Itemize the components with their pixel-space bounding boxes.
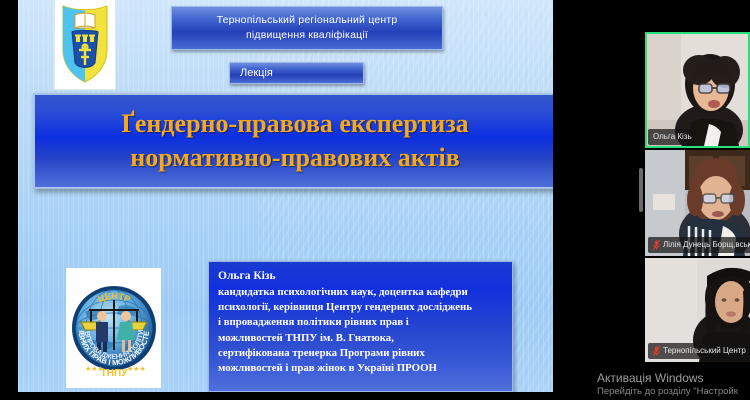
presenter-bio-line: і впровадження політики рівних прав і <box>218 315 512 330</box>
participant-name: Лілія Дунець Борщ,вськ <box>663 239 750 251</box>
svg-text:ТНПУ: ТНПУ <box>100 368 128 379</box>
slide-title-band: Ґендерно-правова експертиза нормативно-п… <box>33 93 553 189</box>
presenter-bio-line: сертифікована тренерка Програми рівних <box>218 346 512 361</box>
lecture-type-banner: Лекція <box>229 62 364 84</box>
slide-title-line-2: нормативно-правових актів <box>130 143 460 173</box>
participant-tile[interactable]: Тернопільський Центр <box>645 258 750 362</box>
presenter-name: Ольга Кізь <box>218 269 512 284</box>
presenter-info-box: Ольга Кізь кандидатка психологічних наук… <box>208 261 513 392</box>
participant-name: Тернопільський Центр <box>663 345 746 357</box>
participant-rail[interactable]: Ольга Кізь <box>641 0 750 400</box>
letterbox-bottom <box>0 392 641 400</box>
presenter-bio-line: можливостей ТНПУ ім. В. Гнатюка, <box>218 331 512 346</box>
letterbox-right <box>553 0 641 400</box>
scrollbar-thumb[interactable] <box>639 168 643 212</box>
participant-name: Ольга Кізь <box>653 131 692 143</box>
svg-text:★★★: ★★★ <box>127 365 146 373</box>
presentation-slide[interactable]: Тернопільський регіональний центр підвищ… <box>18 0 553 392</box>
participant-name-chip: Тернопільський Центр <box>648 343 750 359</box>
microphone-muted-icon <box>653 240 660 250</box>
svg-text:★★★: ★★★ <box>85 365 104 373</box>
presenter-bio-line: кандидатка психологічних наук, доцентка … <box>218 285 512 300</box>
participant-name-chip: Ольга Кізь <box>648 129 697 145</box>
screen-share-view: Тернопільський регіональний центр підвищ… <box>0 0 750 400</box>
microphone-muted-icon <box>653 346 660 356</box>
presenter-bio-line: можливостей і прав жінок в Україні ПРООН <box>218 361 512 376</box>
org-title-banner: Тернопільський регіональний центр підвищ… <box>171 6 443 50</box>
participant-name-chip: Лілія Дунець Борщ,вськ <box>648 237 750 253</box>
ternopil-coat-of-arms-icon <box>54 0 116 90</box>
participant-tile[interactable]: Лілія Дунець Борщ,вськ <box>645 150 750 256</box>
slide-title-line-1: Ґендерно-правова експертиза <box>121 109 468 139</box>
gender-studies-center-logo-icon: ЦЕНТР РІВНИХ ПРАВ І МОЖЛИВОСТЕЙ ТА ВПРОВ… <box>66 268 161 388</box>
letterbox-left <box>0 0 18 400</box>
presenter-bio-line: психології, керівниця Центру гендерних д… <box>218 300 512 315</box>
lecture-label: Лекція <box>240 67 363 79</box>
org-title-line-1: Тернопільський регіональний центр <box>217 13 398 28</box>
participant-tile[interactable]: Ольга Кізь <box>645 32 750 148</box>
org-title-line-2: підвищення кваліфікації <box>246 28 368 43</box>
